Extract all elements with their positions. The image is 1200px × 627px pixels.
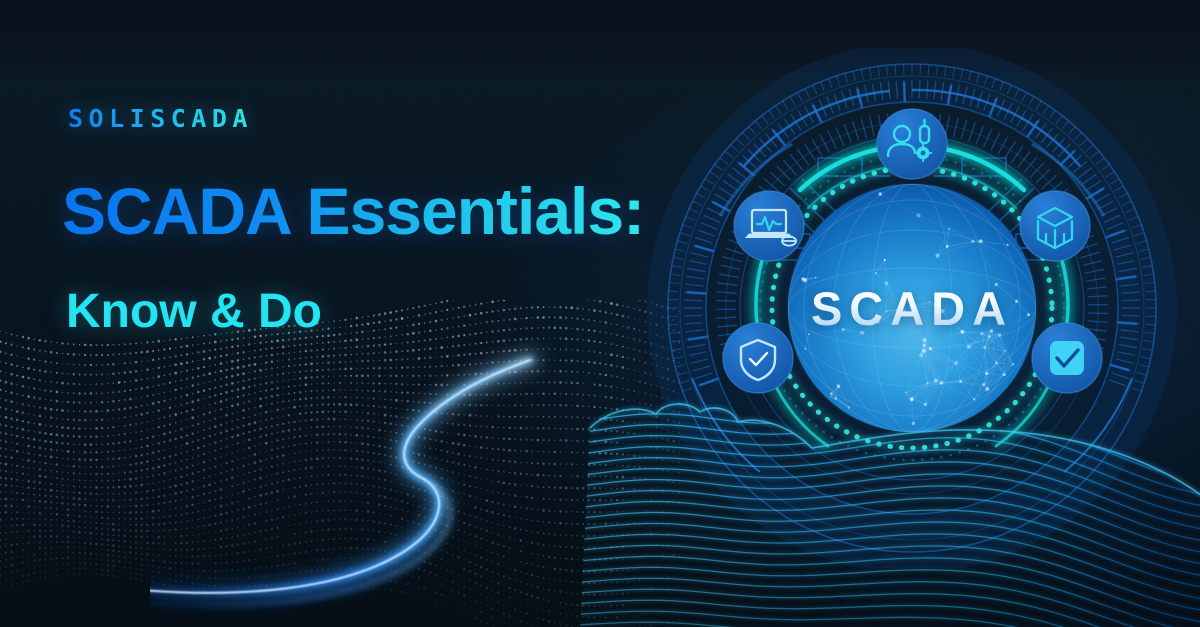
monitor-waveform-icon[interactable] [734, 191, 804, 261]
page-title: SCADA Essentials: [62, 178, 644, 244]
cube-box-icon[interactable] [1020, 191, 1090, 261]
page-subtitle: Know & Do [66, 288, 322, 336]
headline-text-block: SOLISCADA SCADA Essentials: Know & Do [0, 0, 660, 627]
scada-essentials-banner: SCADA SOLISCADA SCADA Essentials [0, 0, 1200, 627]
operator-gear-icon[interactable] [877, 109, 947, 179]
brand-logo: SOLISCADA [68, 104, 253, 133]
